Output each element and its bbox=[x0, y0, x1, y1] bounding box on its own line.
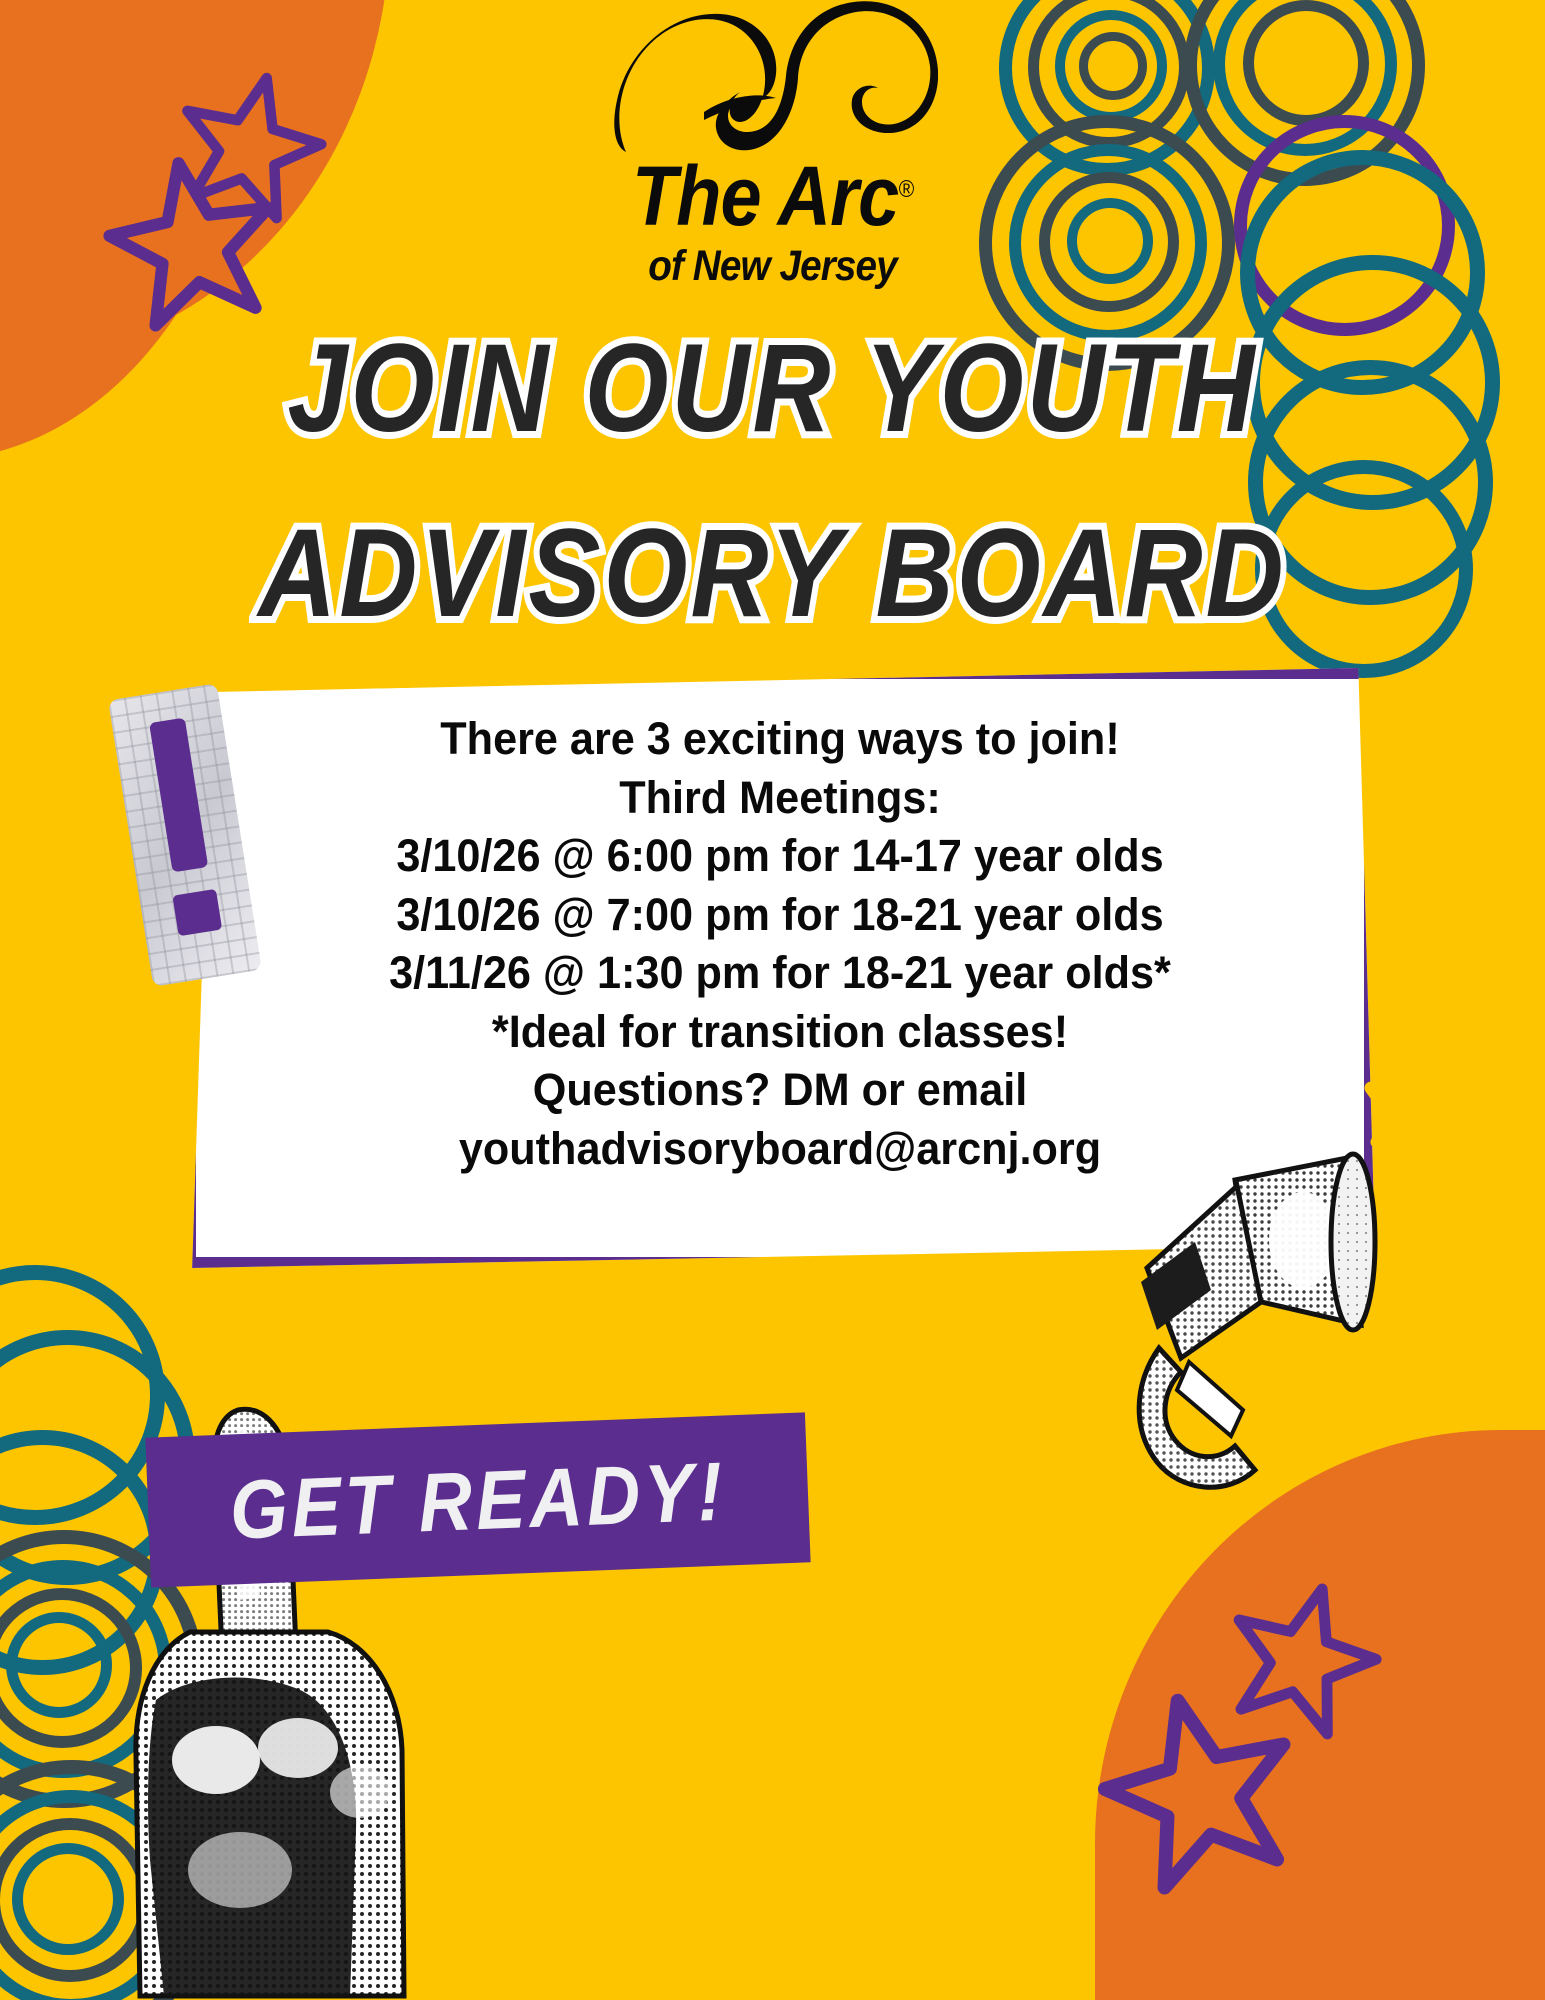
content-card: There are 3 exciting ways to join! Third… bbox=[185, 668, 1375, 1268]
poster-canvas: The Arc® of New Jersey JOIN OUR YOUTH AD… bbox=[0, 0, 1545, 2000]
card-line: There are 3 exciting ways to join! bbox=[209, 710, 1351, 769]
logo-block: The Arc® of New Jersey bbox=[0, 0, 1545, 288]
star-icon bbox=[1079, 1669, 1321, 1911]
get-ready-banner[interactable]: GET READY! bbox=[145, 1412, 810, 1587]
card-line: 3/10/26 @ 7:00 pm for 18-21 year olds bbox=[209, 886, 1351, 945]
logo-name: The Arc® bbox=[93, 159, 1453, 235]
concentric-circles-icon bbox=[12, 1843, 124, 1955]
card-line: Questions? DM or email bbox=[209, 1061, 1351, 1120]
concentric-circles-icon bbox=[0, 1790, 182, 2000]
concentric-circles-icon bbox=[0, 1560, 172, 1778]
card-line: 3/11/26 @ 1:30 pm for 18-21 year olds* bbox=[209, 944, 1351, 1003]
logo-subtitle: of New Jersey bbox=[77, 245, 1468, 288]
card-email: youthadvisoryboard@arcnj.org bbox=[209, 1120, 1351, 1179]
background-blob-bottom-right bbox=[1095, 1430, 1545, 2000]
headline-line-2: ADVISORY BOARD bbox=[0, 500, 1545, 645]
get-ready-label: GET READY! bbox=[145, 1403, 811, 1596]
concentric-circles-icon bbox=[0, 1588, 142, 1748]
content-card-text: There are 3 exciting ways to join! Third… bbox=[209, 710, 1351, 1178]
headline-line-1: JOIN OUR YOUTH bbox=[0, 315, 1545, 460]
arc-brushstroke-icon bbox=[608, 0, 938, 165]
background-yellow-carve bbox=[0, 1570, 430, 2000]
concentric-circles-icon bbox=[0, 1430, 165, 1675]
background-blob-bottom-right-secondary bbox=[1165, 1500, 1545, 2000]
registered-mark: ® bbox=[898, 176, 913, 203]
star-icon bbox=[1207, 1562, 1399, 1754]
card-line: Third Meetings: bbox=[209, 769, 1351, 828]
concentric-circles-icon bbox=[6, 1612, 112, 1718]
background-blob-bottom-left bbox=[0, 1620, 360, 2000]
card-line: 3/10/26 @ 6:00 pm for 14-17 year olds bbox=[209, 827, 1351, 886]
concentric-circles-icon bbox=[0, 1760, 213, 2000]
concentric-circles-icon bbox=[0, 1818, 152, 1982]
concentric-circles-icon bbox=[0, 1265, 165, 1525]
card-line: *Ideal for transition classes! bbox=[209, 1003, 1351, 1062]
